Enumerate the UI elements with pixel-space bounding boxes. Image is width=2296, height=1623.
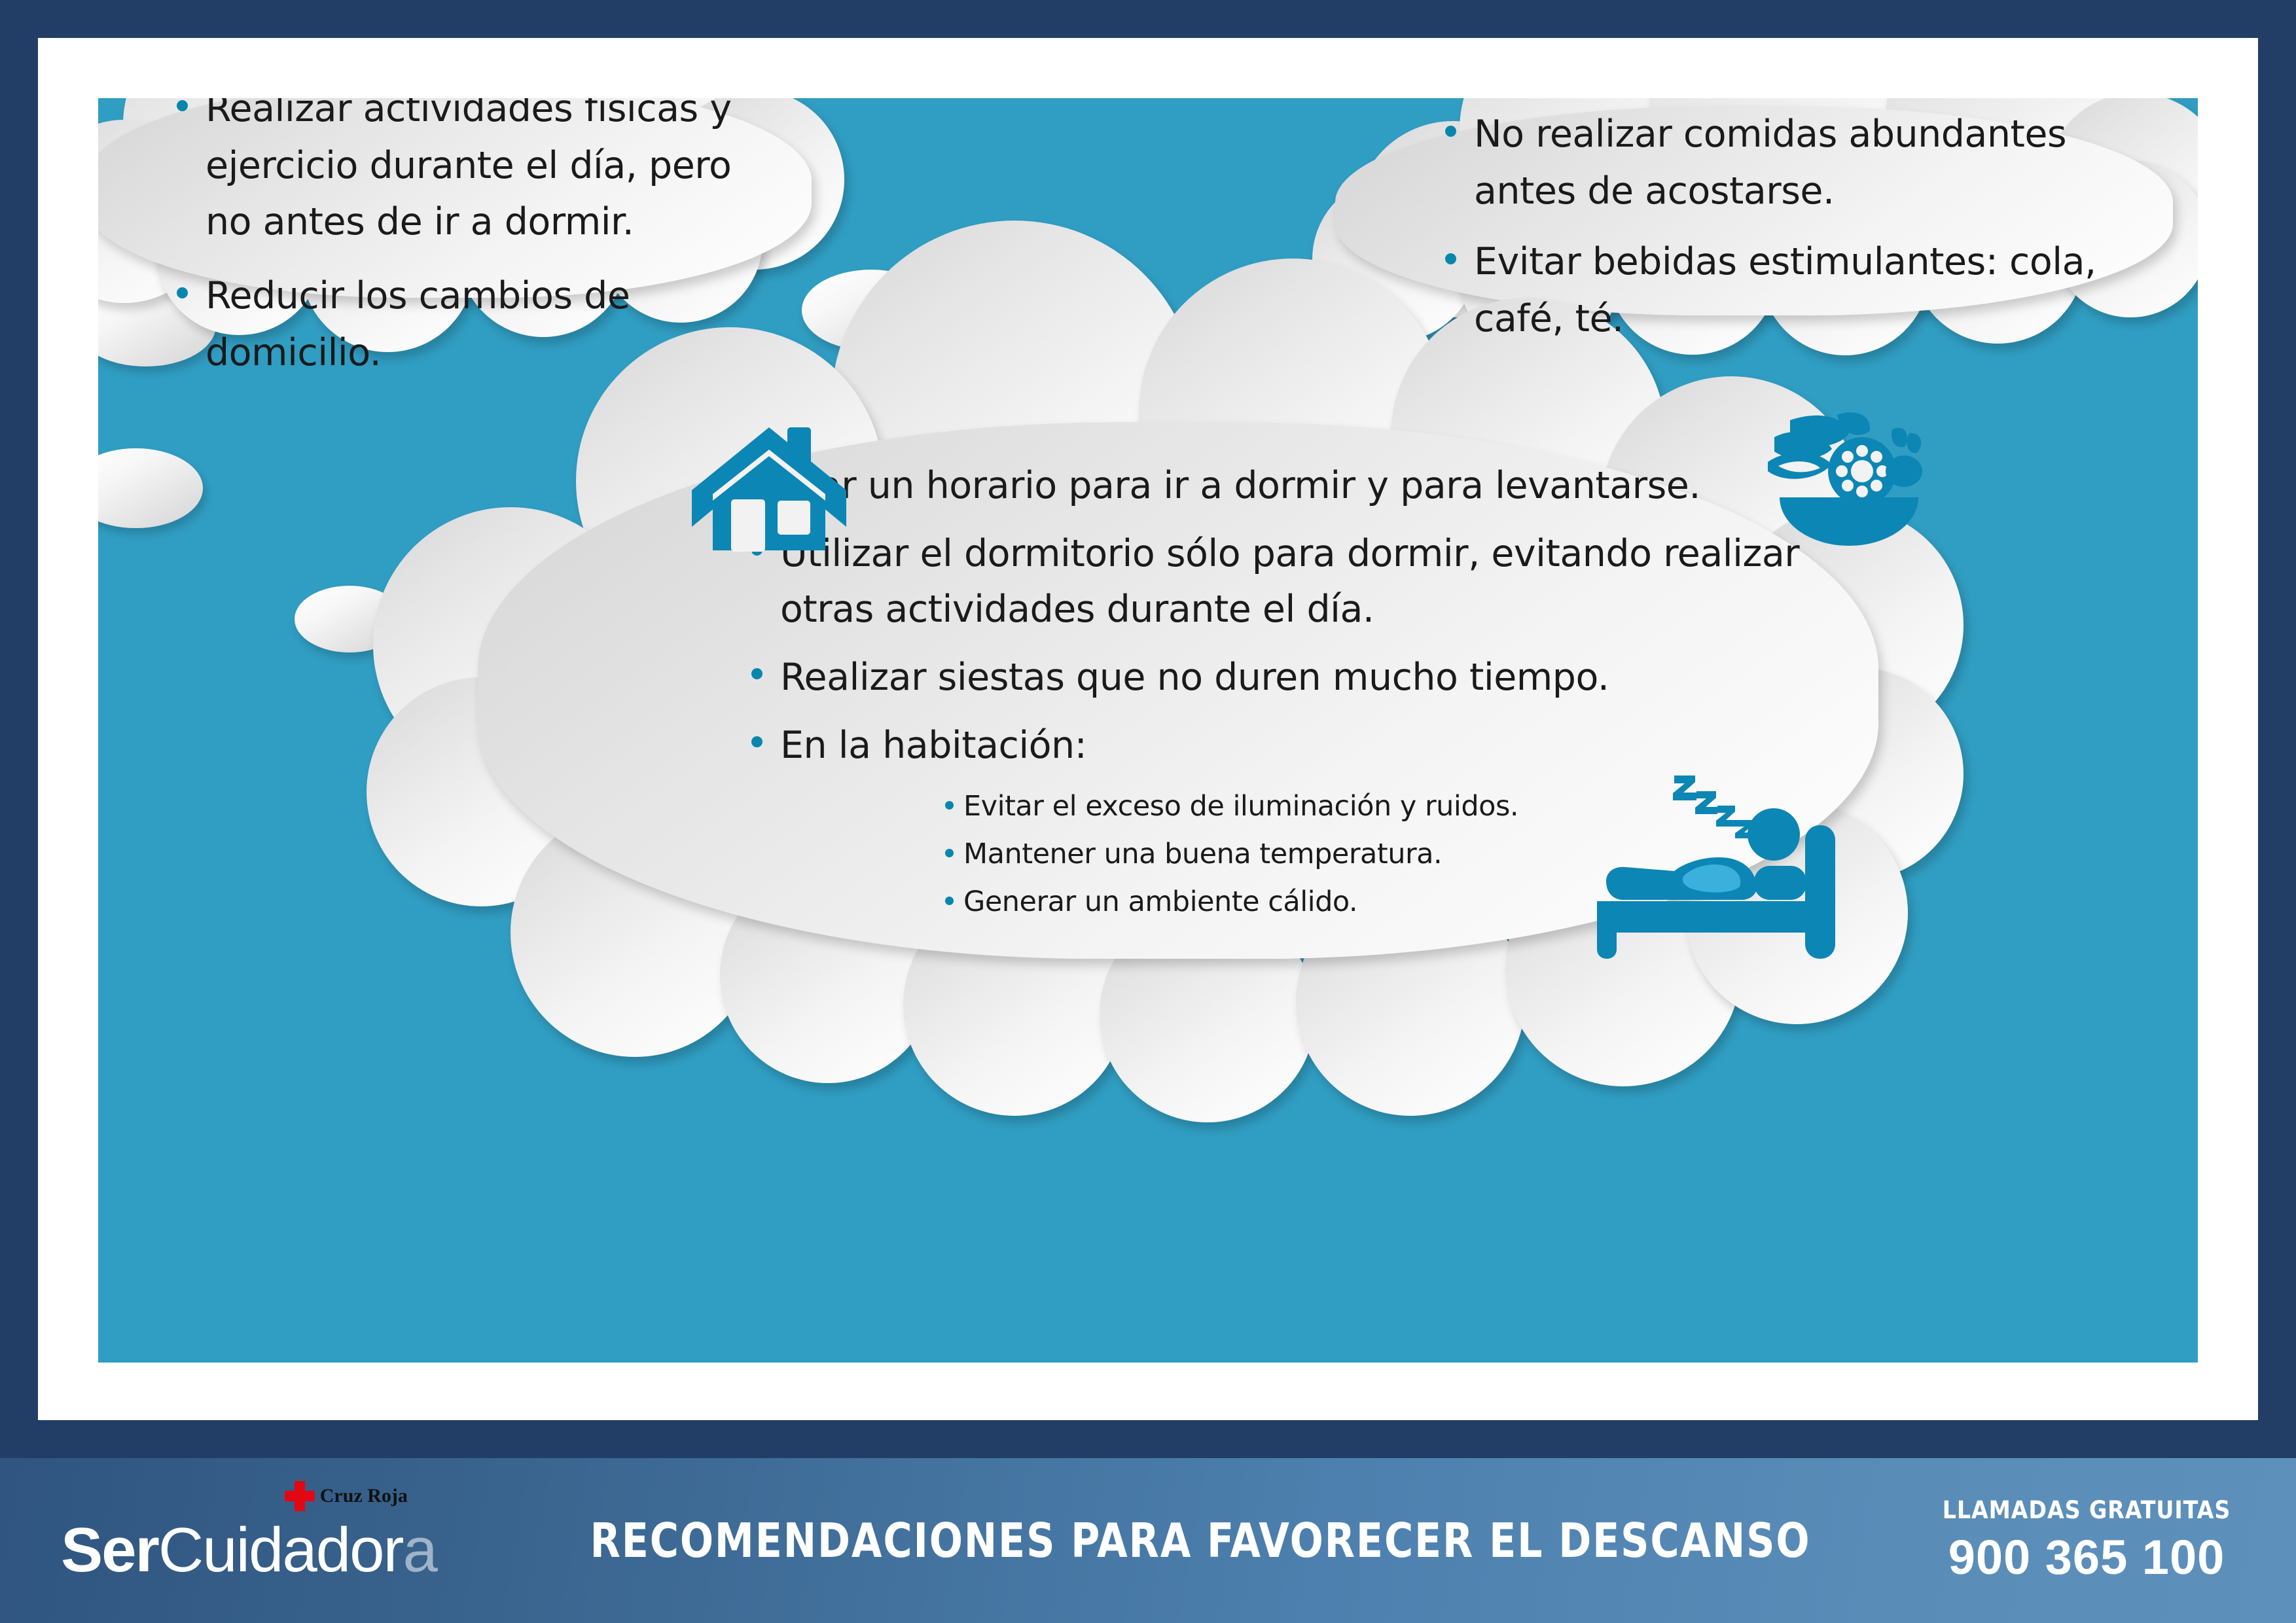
bullet-dot (945, 897, 954, 905)
floating-oval (98, 448, 203, 528)
cruz-roja-mark: Cruz Roja (285, 1481, 408, 1511)
bullet-dot (177, 287, 188, 298)
bullet-dot (1445, 253, 1456, 264)
list-item: Evitar bebidas estimulantes: cola, café,… (1440, 234, 2101, 347)
cloud-top-right-content: No realizar comidas abundantes antes de … (1440, 106, 2101, 362)
free-calls-label: LLAMADAS GRATUITAS (1922, 1496, 2251, 1524)
sky-canvas: Realizar actividades físicas y ejercicio… (98, 98, 2198, 1363)
footer-bar: SerCuidadora Cruz Roja RECOMENDACIONES P… (0, 1458, 2296, 1623)
list-item: Fijar un horario para ir a dormir y para… (746, 458, 1806, 513)
cruz-roja-label: Cruz Roja (320, 1485, 408, 1507)
brand-logo-part1: Ser (61, 1515, 158, 1585)
list-item: Realizar actividades físicas y ejercicio… (171, 98, 767, 251)
bullet-dot (945, 801, 954, 810)
bullet-text: Evitar bebidas estimulantes: cola, café,… (1474, 240, 2096, 340)
bullet-dot (945, 849, 954, 857)
bullet-text: Realizar actividades físicas y ejercicio… (206, 98, 732, 243)
fruit-bowl-icon (1764, 406, 1928, 550)
list-item: No realizar comidas abundantes antes de … (1440, 106, 2101, 219)
phone-number[interactable]: 900 365 100 (1903, 1529, 2270, 1585)
bullet-text: Fijar un horario para ir a dormir y para… (780, 464, 1700, 507)
bullet-dot (177, 100, 188, 111)
brand-logo[interactable]: SerCuidadora Cruz Roja (0, 1499, 497, 1582)
bullet-text: Utilizar el dormitorio sólo para dormir,… (780, 532, 1799, 630)
sleeping-person-in-bed-icon (1597, 762, 1872, 962)
bullet-text: Generar un ambiente cálido. (963, 885, 1357, 918)
bullet-list-top-right: No realizar comidas abundantes antes de … (1440, 106, 2101, 348)
house-icon (691, 422, 848, 563)
list-item: Utilizar el dormitorio sólo para dormir,… (746, 526, 1806, 637)
brand-logo-part3: a (403, 1515, 436, 1585)
brand-logo-text: SerCuidadora (61, 1515, 437, 1585)
bullet-dot (1445, 126, 1456, 137)
bullet-list-top-left: Realizar actividades físicas y ejercicio… (171, 98, 767, 381)
bullet-text: No realizar comidas abundantes antes de … (1474, 113, 2066, 213)
poster-root: Realizar actividades físicas y ejercicio… (0, 0, 2296, 1623)
list-item: Realizar siestas que no duren mucho tiem… (746, 650, 1806, 705)
bullet-text: Reducir los cambios de domicilio. (206, 274, 630, 374)
cloud-center: Fijar un horario para ir a dormir y para… (380, 291, 1964, 1142)
bullet-text: Evitar el exceso de iluminación y ruidos… (963, 790, 1518, 823)
free-call-block[interactable]: LLAMADAS GRATUITAS 900 365 100 (1903, 1496, 2296, 1585)
bullet-dot (751, 668, 762, 679)
bullet-text: Mantener una buena temperatura. (963, 838, 1442, 870)
brand-logo-part2: Cuidador (158, 1515, 403, 1585)
list-item: Reducir los cambios de domicilio. (171, 268, 767, 381)
bullet-dot (751, 736, 762, 747)
bullet-text: En la habitación: (780, 724, 1086, 767)
bullet-list-center: Fijar un horario para ir a dormir y para… (746, 458, 1806, 774)
footer-title: RECOMENDACIONES PARA FAVORECER EL DESCAN… (547, 1513, 1854, 1568)
bullet-text: Realizar siestas que no duren mucho tiem… (780, 656, 1609, 699)
red-cross-icon (285, 1481, 315, 1511)
cloud-top-left-content: Realizar actividades físicas y ejercicio… (171, 98, 767, 398)
